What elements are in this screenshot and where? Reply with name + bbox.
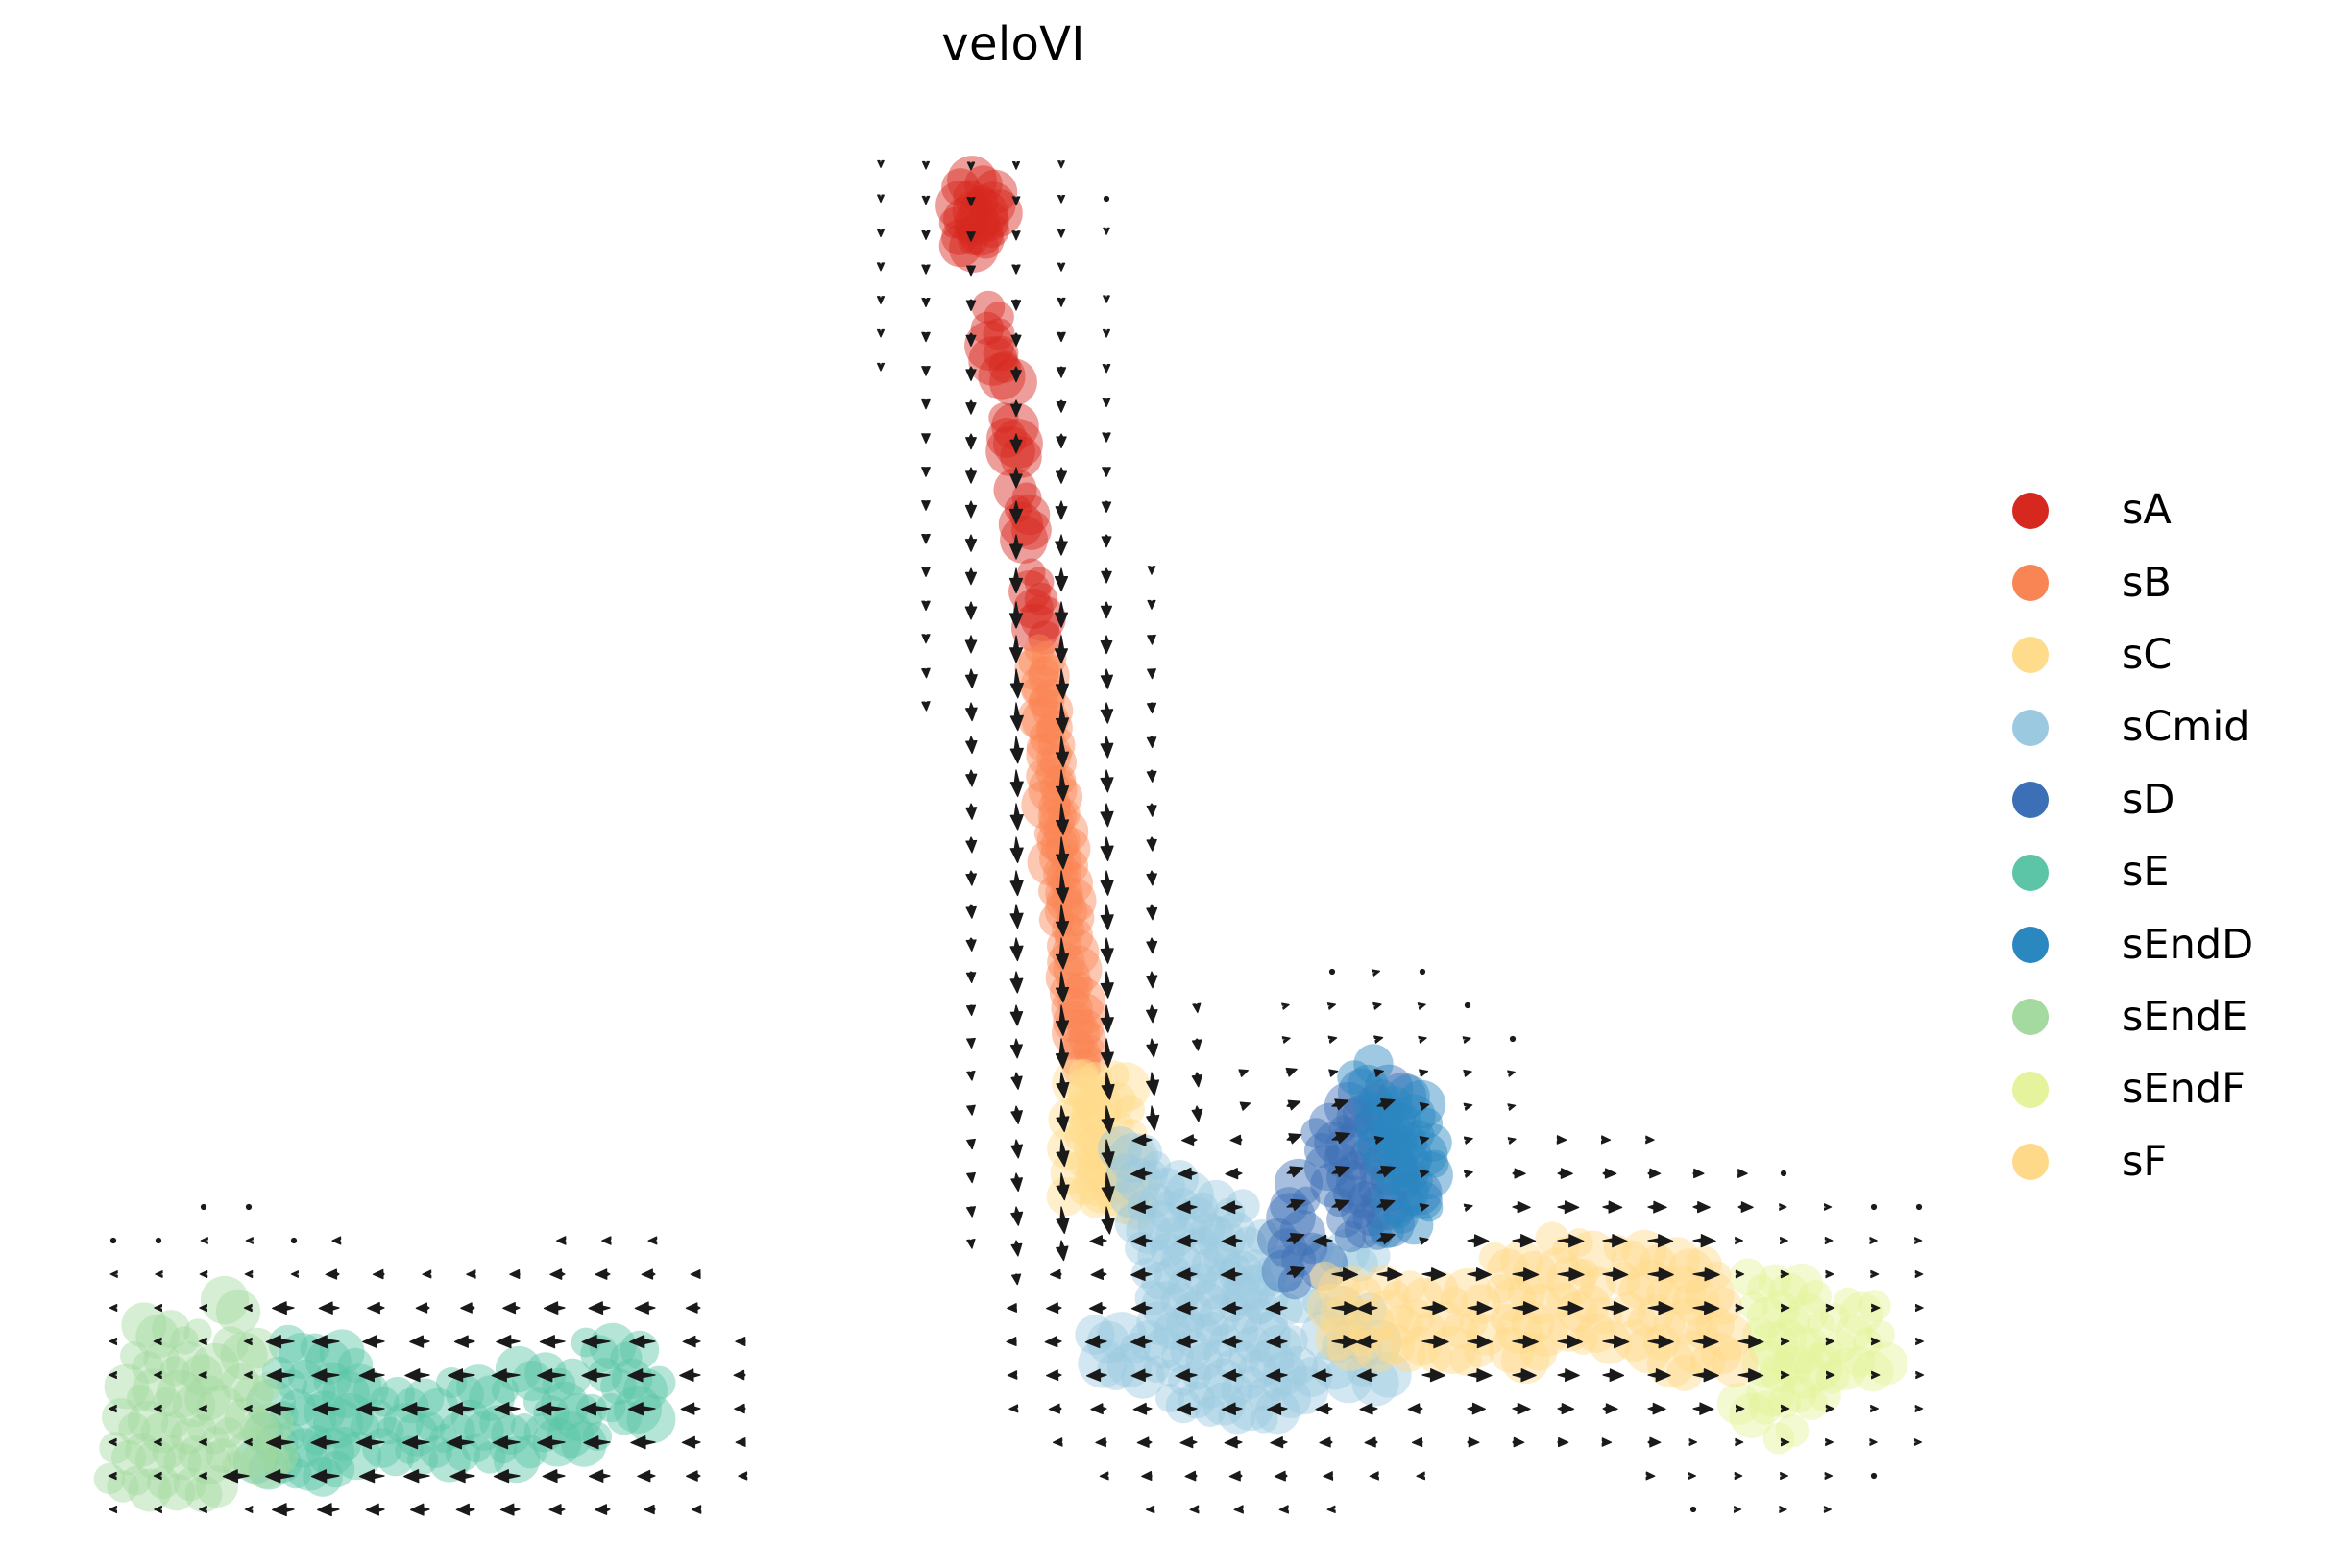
velocity-arrow <box>495 1403 520 1415</box>
velocity-zero-marker <box>246 1204 252 1210</box>
scatter-point <box>1397 1170 1443 1216</box>
legend-item-sf[interactable]: sF <box>2012 1126 2320 1198</box>
velocity-arrow <box>1007 1338 1016 1346</box>
velocity-arrow <box>1131 1369 1152 1381</box>
scatter-point <box>1401 1326 1441 1365</box>
scatter-point <box>1766 1318 1807 1359</box>
scatter-point <box>1160 1160 1199 1198</box>
scatter-point <box>1628 1307 1658 1337</box>
scatter-point <box>496 1346 542 1392</box>
legend-item-se[interactable]: sE <box>2012 836 2320 908</box>
scatter-point <box>1081 1076 1114 1110</box>
scatter-point <box>1361 1182 1410 1231</box>
scatter-point <box>1009 495 1051 536</box>
scatter-point <box>1302 1289 1329 1315</box>
velocity-arrow <box>405 1369 429 1382</box>
velocity-arrow <box>1090 1236 1106 1246</box>
scatter-point <box>1040 744 1077 781</box>
velocity-arrow <box>922 501 931 511</box>
scatter-point <box>1196 1272 1233 1310</box>
scatter-point <box>1057 977 1105 1024</box>
scatter-point <box>964 321 1014 371</box>
scatter-point <box>1218 1396 1255 1434</box>
scatter-point <box>1248 1378 1281 1411</box>
velocity-arrow <box>1049 1404 1061 1413</box>
velocity-arrow <box>1085 1336 1106 1348</box>
scatter-point <box>183 1318 211 1346</box>
velocity-arrow <box>1234 1506 1243 1513</box>
scatter-point <box>1329 1116 1357 1144</box>
scatter-point <box>1281 1242 1316 1277</box>
scatter-point <box>1125 1232 1157 1265</box>
velocity-arrow <box>1377 1234 1395 1244</box>
scatter-point <box>173 1385 215 1427</box>
scatter-point <box>304 1390 346 1433</box>
legend-item-sd[interactable]: sD <box>2012 764 2320 836</box>
scatter-point <box>395 1435 424 1464</box>
velocity-arrow <box>584 1436 610 1449</box>
velocity-arrow <box>1147 837 1156 851</box>
velocity-arrow <box>1871 1405 1879 1411</box>
velocity-arrow <box>1468 1235 1489 1247</box>
velocity-arrow <box>1148 669 1156 679</box>
velocity-arrow <box>1131 1201 1152 1213</box>
velocity-arrow <box>1148 635 1156 644</box>
velocity-arrow <box>1057 1106 1069 1131</box>
velocity-arrow <box>1229 1471 1242 1481</box>
legend-item-sa[interactable]: sA <box>2012 474 2320 546</box>
scatter-point <box>1622 1230 1667 1275</box>
velocity-arrow <box>109 1438 116 1445</box>
velocity-arrow <box>109 1507 117 1513</box>
scatter-point <box>1221 1274 1261 1315</box>
scatter-point <box>1398 1160 1428 1190</box>
velocity-arrow <box>734 1370 745 1379</box>
legend-item-sb[interactable]: sB <box>2012 546 2320 618</box>
scatter-point <box>939 207 970 238</box>
scatter-point <box>1404 1181 1443 1219</box>
scatter-point <box>107 1470 138 1502</box>
scatter-point <box>152 1310 190 1348</box>
scatter-point <box>1580 1266 1615 1302</box>
scatter-point <box>1115 1119 1148 1151</box>
scatter-point <box>1362 1219 1393 1250</box>
scatter-point <box>1100 1082 1136 1119</box>
scatter-point <box>263 1444 302 1483</box>
scatter-point <box>1339 1114 1385 1160</box>
scatter-point <box>1025 583 1058 616</box>
scatter-point <box>1230 1226 1266 1262</box>
scatter-point <box>1139 1183 1174 1218</box>
velocity-arrow <box>966 333 976 346</box>
velocity-arrow <box>1132 1235 1152 1246</box>
scatter-point <box>1376 1086 1412 1122</box>
legend-item-sendf[interactable]: sEndF <box>2012 1053 2320 1125</box>
scatter-point <box>1858 1290 1890 1321</box>
scatter-point <box>127 1385 154 1411</box>
velocity-arrow <box>1377 1099 1395 1110</box>
velocity-arrow <box>155 1305 162 1312</box>
scatter-point <box>1100 1151 1149 1200</box>
scatter-point <box>1045 874 1083 912</box>
scatter-point <box>1149 1191 1191 1233</box>
legend-swatch-icon <box>2012 710 2049 746</box>
velocity-arrow <box>1010 770 1023 796</box>
scatter-point <box>1047 860 1079 892</box>
velocity-arrow <box>1780 1204 1786 1211</box>
scatter-point <box>1196 1180 1237 1221</box>
velocity-arrow <box>359 1470 384 1483</box>
scatter-point <box>1278 1266 1312 1300</box>
velocity-arrow <box>1372 970 1380 976</box>
velocity-arrow <box>1374 1036 1383 1043</box>
velocity-arrow <box>544 1302 565 1314</box>
scatter-point <box>1028 688 1057 717</box>
scatter-point <box>984 302 1014 332</box>
velocity-zero-marker <box>1510 1036 1516 1042</box>
velocity-arrow <box>500 1504 520 1515</box>
velocity-arrow <box>1057 1173 1069 1200</box>
legend-item-sende[interactable]: sEndE <box>2012 981 2320 1053</box>
velocity-arrow <box>1010 468 1022 488</box>
velocity-arrow <box>1558 1369 1579 1382</box>
scatter-point <box>1068 1150 1096 1178</box>
scatter-point <box>1021 665 1062 707</box>
velocity-arrow <box>582 1336 610 1348</box>
scatter-point <box>1008 570 1051 613</box>
scatter-point <box>1081 1099 1121 1140</box>
velocity-arrow <box>1332 1132 1349 1143</box>
velocity-arrow <box>1781 1238 1788 1244</box>
velocity-arrow <box>966 938 976 951</box>
scatter-point <box>1568 1326 1597 1355</box>
scatter-point <box>1492 1278 1536 1322</box>
legend-item-label: sC <box>2122 635 2172 676</box>
scatter-point <box>158 1474 196 1511</box>
scatter-point <box>201 1276 249 1324</box>
velocity-arrow <box>1320 1437 1332 1447</box>
scatter-point <box>1075 1082 1123 1130</box>
velocity-arrow <box>154 1438 161 1445</box>
scatter-point <box>1637 1294 1674 1332</box>
scatter-point <box>1666 1355 1703 1391</box>
velocity-arrow <box>582 1369 610 1382</box>
scatter-point <box>1371 1099 1402 1131</box>
scatter-point <box>1618 1272 1655 1309</box>
velocity-arrow <box>1825 1238 1832 1244</box>
legend-item-scmid[interactable]: sCmid <box>2012 691 2320 763</box>
velocity-arrow <box>966 400 976 414</box>
scatter-point <box>118 1412 150 1444</box>
velocity-arrow <box>1915 1439 1922 1445</box>
velocity-arrow <box>922 567 930 576</box>
scatter-point <box>1835 1315 1873 1352</box>
scatter-point <box>524 1352 567 1394</box>
velocity-arrow <box>1603 1369 1624 1381</box>
velocity-embedding-figure: veloVI sAsBsCsCmidsDsEsEndDsEndEsEndFsF <box>0 0 2332 1568</box>
velocity-arrow <box>1010 669 1023 698</box>
velocity-arrow <box>1103 398 1110 406</box>
scatter-point <box>1570 1259 1599 1288</box>
scatter-point <box>1021 780 1070 829</box>
scatter-point <box>1021 677 1049 705</box>
velocity-zero-marker <box>1465 1002 1470 1008</box>
velocity-arrow <box>1915 1406 1922 1412</box>
velocity-arrow <box>245 1271 252 1278</box>
velocity-arrow <box>1013 162 1020 170</box>
scatter-point <box>643 1366 676 1400</box>
scatter-point <box>1402 1166 1433 1196</box>
velocity-arrow <box>1463 1037 1470 1043</box>
scatter-point <box>1277 1325 1308 1356</box>
velocity-arrow <box>1221 1201 1242 1214</box>
velocity-arrow <box>1328 1036 1336 1043</box>
scatter-point <box>1143 1327 1184 1368</box>
velocity-arrow <box>244 1371 252 1378</box>
velocity-arrow <box>1602 1438 1611 1446</box>
velocity-arrow <box>1872 1371 1880 1378</box>
velocity-arrow <box>1011 1241 1022 1256</box>
scatter-point <box>1418 1339 1452 1373</box>
scatter-point <box>1178 1382 1216 1419</box>
velocity-arrow <box>1602 1136 1611 1144</box>
scatter-point <box>436 1367 467 1398</box>
velocity-arrow <box>922 265 930 274</box>
scatter-point <box>1053 1001 1095 1043</box>
velocity-arrow <box>1464 1137 1472 1144</box>
velocity-arrow <box>1736 1237 1743 1243</box>
velocity-arrow <box>1603 1268 1628 1281</box>
velocity-arrow <box>687 1471 700 1481</box>
scatter-point <box>1319 1245 1347 1273</box>
scatter-point <box>1069 1105 1114 1150</box>
velocity-arrow <box>595 1505 610 1515</box>
scatter-point <box>1513 1251 1557 1295</box>
scatter-point <box>170 1326 199 1355</box>
velocity-arrow <box>1010 736 1023 763</box>
velocity-arrow <box>200 1271 206 1278</box>
velocity-arrow <box>966 367 976 380</box>
scatter-point <box>523 1387 552 1416</box>
scatter-point <box>1078 1339 1127 1387</box>
velocity-arrow <box>368 1303 384 1314</box>
scatter-point <box>1389 1158 1420 1189</box>
scatter-point <box>1742 1340 1789 1387</box>
velocity-arrow <box>1332 1268 1358 1281</box>
velocity-arrow <box>965 501 976 518</box>
scatter-point <box>953 192 992 231</box>
scatter-point <box>1191 1212 1226 1246</box>
velocity-arrow <box>1011 1173 1022 1191</box>
velocity-arrow <box>1147 804 1156 816</box>
velocity-arrow <box>1419 1036 1426 1043</box>
velocity-arrow <box>1104 228 1109 234</box>
scatter-point <box>1293 1187 1321 1215</box>
velocity-arrow <box>1282 1037 1290 1043</box>
scatter-point <box>135 1315 179 1358</box>
scatter-point <box>351 1412 380 1442</box>
scatter-point <box>965 185 998 218</box>
scatter-point <box>1586 1297 1623 1335</box>
scatter-point <box>1421 1150 1449 1178</box>
velocity-arrow <box>1101 770 1113 792</box>
scatter-point <box>1491 1304 1522 1336</box>
velocity-arrow <box>922 231 930 240</box>
scatter-point <box>986 418 1027 458</box>
scatter-point <box>1546 1283 1581 1317</box>
scatter-point <box>1604 1235 1632 1263</box>
velocity-arrow <box>1826 1405 1834 1411</box>
scatter-point <box>164 1443 202 1481</box>
velocity-arrow <box>1101 972 1113 998</box>
scatter-point <box>240 1438 290 1488</box>
scatter-point <box>1853 1328 1882 1357</box>
scatter-point <box>280 1458 312 1489</box>
velocity-arrow <box>1147 1005 1157 1023</box>
velocity-arrow <box>878 363 885 371</box>
velocity-arrow <box>1282 1003 1289 1009</box>
legend-item-sendd[interactable]: sEndD <box>2012 908 2320 980</box>
velocity-arrow <box>1513 1369 1536 1382</box>
scatter-point <box>1778 1305 1810 1337</box>
scatter-point <box>1747 1274 1776 1303</box>
velocity-arrow <box>581 1403 610 1415</box>
scatter-point <box>1069 1059 1099 1089</box>
scatter-point <box>1005 495 1032 522</box>
scatter-point <box>1310 1262 1342 1293</box>
velocity-arrow <box>244 1338 252 1344</box>
velocity-arrow <box>1287 1199 1305 1210</box>
scatter-point <box>188 1442 231 1485</box>
velocity-arrow <box>1057 770 1069 801</box>
scatter-point <box>1043 855 1081 893</box>
scatter-point <box>1336 1159 1384 1207</box>
velocity-arrow <box>423 1270 431 1278</box>
scatter-point <box>1546 1256 1595 1305</box>
velocity-arrow <box>1010 434 1022 453</box>
velocity-arrow <box>402 1403 429 1415</box>
velocity-arrow <box>273 1302 294 1315</box>
velocity-arrow <box>416 1303 429 1313</box>
legend-item-sc[interactable]: sC <box>2012 619 2320 691</box>
cluster-sd <box>1257 1065 1443 1300</box>
scatter-point <box>1392 1170 1421 1199</box>
velocity-arrow <box>967 1072 975 1080</box>
scatter-point <box>964 165 1003 204</box>
scatter-point <box>1336 1098 1375 1137</box>
scatter-point <box>1807 1311 1834 1339</box>
velocity-arrow <box>1222 1336 1242 1347</box>
scatter-point <box>1067 1009 1105 1047</box>
velocity-arrow <box>1324 1472 1333 1481</box>
velocity-arrow <box>1648 1235 1673 1247</box>
scatter-point <box>943 197 987 241</box>
scatter-point <box>1853 1351 1894 1392</box>
velocity-arrow <box>1693 1369 1718 1382</box>
scatter-point <box>541 1382 590 1431</box>
scatter-point <box>953 180 986 213</box>
velocity-arrow <box>1102 1106 1114 1133</box>
velocity-arrow <box>266 1336 294 1348</box>
velocity-arrow <box>1780 1507 1786 1513</box>
velocity-arrow <box>966 736 977 754</box>
scatter-point <box>1588 1320 1631 1363</box>
scatter-point <box>1313 1297 1347 1331</box>
scatter-point <box>286 1394 336 1444</box>
velocity-arrow <box>1287 1134 1301 1144</box>
scatter-point <box>1200 1295 1241 1337</box>
scatter-point <box>983 318 1014 350</box>
velocity-arrow <box>503 1303 520 1314</box>
velocity-arrow <box>326 1269 339 1279</box>
velocity-arrow <box>1056 1005 1068 1035</box>
scatter-point <box>1646 1277 1681 1312</box>
scatter-point <box>1227 1385 1274 1431</box>
velocity-arrow <box>266 1470 294 1483</box>
velocity-arrow <box>1513 1302 1538 1315</box>
scatter-point <box>1062 993 1105 1036</box>
velocity-arrow <box>449 1369 474 1382</box>
scatter-point <box>1348 1300 1395 1346</box>
scatter-point <box>1696 1306 1735 1344</box>
velocity-arrow <box>922 299 930 307</box>
scatter-point <box>1686 1245 1721 1281</box>
scatter-point <box>1263 1351 1307 1395</box>
velocity-arrow <box>1056 1039 1068 1068</box>
scatter-point <box>1280 1366 1328 1414</box>
scatter-point <box>1219 1253 1251 1285</box>
velocity-arrow <box>1057 837 1069 869</box>
scatter-point <box>1501 1336 1549 1384</box>
scatter-point <box>1126 1208 1171 1253</box>
scatter-point <box>1097 1312 1147 1362</box>
velocity-arrow <box>373 1269 384 1278</box>
scatter-point <box>277 1369 307 1400</box>
scatter-point <box>1114 1095 1145 1125</box>
velocity-arrow <box>109 1405 116 1411</box>
scatter-point <box>94 1463 126 1495</box>
scatter-point <box>279 1389 316 1426</box>
velocity-zero-marker <box>1420 969 1425 975</box>
velocity-arrow <box>1130 1336 1152 1347</box>
velocity-arrow <box>1374 1137 1383 1145</box>
scatter-point <box>288 1360 323 1394</box>
legend-swatch-icon <box>2012 1072 2049 1108</box>
scatter-point <box>1069 1021 1106 1058</box>
scatter-point <box>975 213 1009 248</box>
scatter-point <box>1840 1292 1883 1336</box>
scatter-point <box>1297 1233 1328 1265</box>
scatter-point <box>1186 1343 1224 1381</box>
scatter-points-layer <box>94 156 1908 1512</box>
scatter-point <box>1370 1214 1404 1248</box>
scatter-point <box>1248 1257 1287 1296</box>
velocity-arrow <box>1648 1336 1673 1348</box>
velocity-arrow <box>1057 400 1066 412</box>
scatter-point <box>1686 1316 1718 1349</box>
velocity-arrow <box>965 535 976 551</box>
scatter-point <box>1083 1125 1126 1168</box>
velocity-arrow <box>635 1302 655 1314</box>
scatter-point <box>1865 1342 1908 1386</box>
scatter-point <box>1704 1262 1732 1290</box>
scatter-point <box>206 1438 240 1473</box>
velocity-zero-marker <box>156 1238 161 1243</box>
velocity-arrow <box>1177 1336 1197 1347</box>
scatter-point <box>1040 826 1078 863</box>
velocity-arrow <box>736 1338 745 1346</box>
legend-swatch-icon <box>2012 637 2049 673</box>
